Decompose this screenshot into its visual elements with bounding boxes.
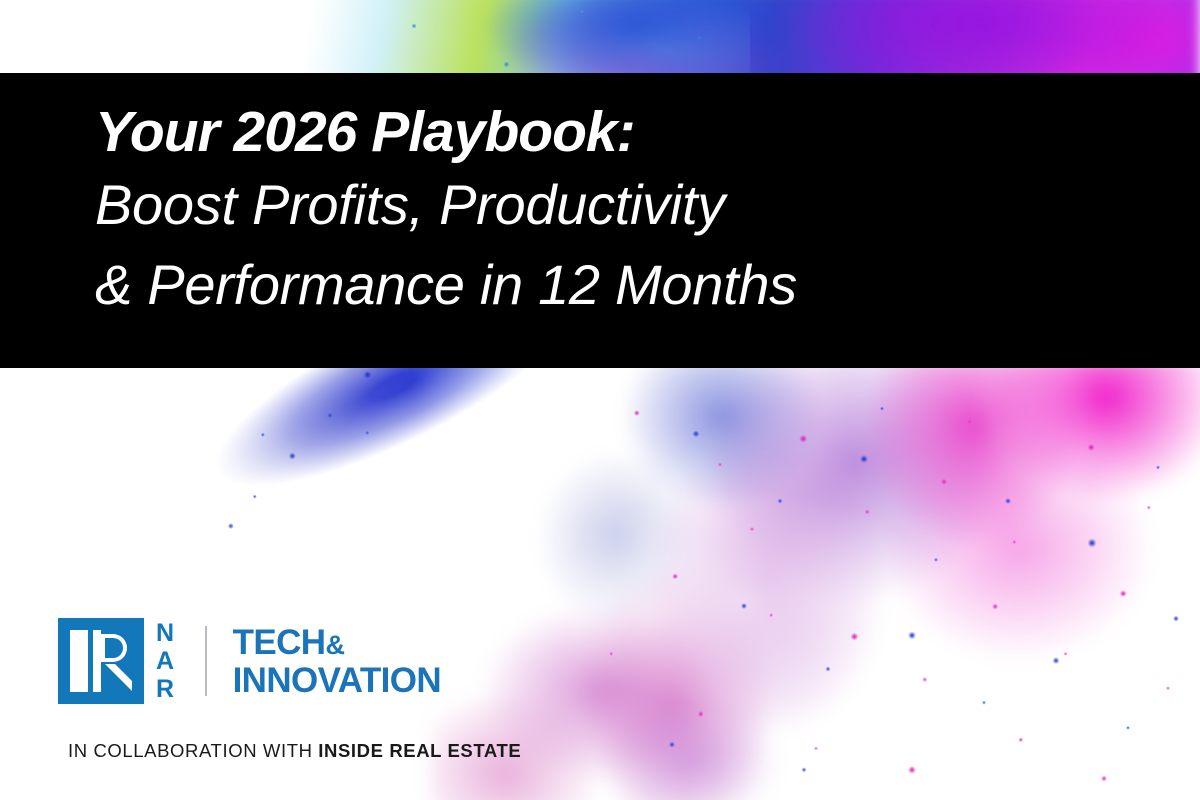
collaboration-partner: INSIDE REAL ESTATE bbox=[318, 740, 521, 761]
nar-letters: N A R bbox=[156, 618, 175, 704]
nar-letter-a: A bbox=[156, 647, 175, 675]
page-title: Your 2026 Playbook: Boost Profits, Produ… bbox=[95, 99, 1125, 324]
ampersand-icon: & bbox=[325, 630, 344, 660]
title-line-3: & Performance in 12 Months bbox=[95, 245, 1125, 325]
tech-word: TECH bbox=[233, 623, 326, 662]
tech-innovation-wordmark: TECH& INNOVATION bbox=[233, 625, 442, 698]
tech-innovation-line-1: TECH& bbox=[233, 625, 442, 660]
nar-r-mark-icon bbox=[58, 618, 144, 704]
vertical-divider-icon bbox=[205, 626, 207, 696]
collaboration-prefix: IN COLLABORATION WITH bbox=[68, 740, 318, 761]
logo-lockup: N A R TECH& INNOVATION bbox=[58, 618, 441, 704]
title-line-1: Your 2026 Playbook: bbox=[95, 99, 1125, 165]
title-line-2: Boost Profits, Productivity bbox=[95, 165, 1125, 245]
promo-graphic-canvas: Your 2026 Playbook: Boost Profits, Produ… bbox=[0, 0, 1200, 800]
title-banner: Your 2026 Playbook: Boost Profits, Produ… bbox=[0, 73, 1200, 368]
tech-innovation-line-2: INNOVATION bbox=[233, 663, 442, 698]
nar-letter-r: R bbox=[156, 675, 175, 703]
collaboration-credit: IN COLLABORATION WITH INSIDE REAL ESTATE bbox=[68, 740, 521, 762]
powder-dots-blue bbox=[600, 375, 1200, 795]
nar-letter-n: N bbox=[156, 619, 175, 647]
